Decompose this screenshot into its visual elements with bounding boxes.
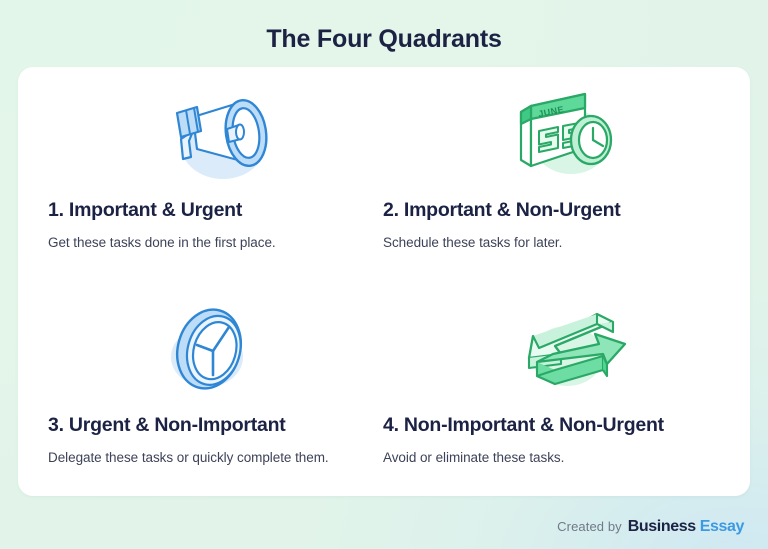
quadrant-4: 4. Non-Important & Non-Urgent Avoid or e… (372, 282, 750, 497)
svg-text:JUNE: JUNE (537, 104, 564, 119)
quadrant-2-description: Schedule these tasks for later. (383, 235, 562, 250)
quadrant-1-description: Get these tasks done in the first place. (48, 235, 276, 250)
business-essay-logo[interactable]: BusinessEssay (628, 518, 744, 536)
quadrants-grid: 1. Important & Urgent Get these tasks do… (18, 67, 750, 496)
infographic-page: The Four Quadrants (0, 0, 768, 549)
quadrant-1: 1. Important & Urgent Get these tasks do… (18, 67, 372, 282)
quadrant-2-heading: 2. Important & Non-Urgent (383, 199, 621, 222)
calendar-clock-icon: JUNE (494, 85, 639, 185)
quadrant-4-description: Avoid or eliminate these tasks. (383, 450, 564, 465)
credit-footer: Created by BusinessEssay (557, 518, 744, 536)
clock-icon (138, 300, 283, 400)
quadrants-card: 1. Important & Urgent Get these tasks do… (18, 67, 750, 496)
quadrant-3: 3. Urgent & Non-Important Delegate these… (18, 282, 372, 497)
page-title: The Four Quadrants (0, 22, 768, 56)
brand-name-business: Business (628, 518, 696, 536)
credit-prefix: Created by (557, 519, 622, 534)
quadrant-1-heading: 1. Important & Urgent (48, 199, 242, 222)
megaphone-icon (146, 85, 291, 185)
quadrant-2: JUNE 2. Important & Non-Urgent Schedule … (372, 67, 750, 282)
quadrant-3-heading: 3. Urgent & Non-Important (48, 414, 286, 437)
exchange-arrows-icon (494, 300, 639, 400)
quadrant-4-heading: 4. Non-Important & Non-Urgent (383, 414, 664, 437)
brand-name-essay: Essay (700, 518, 744, 536)
quadrant-3-description: Delegate these tasks or quickly complete… (48, 450, 329, 465)
